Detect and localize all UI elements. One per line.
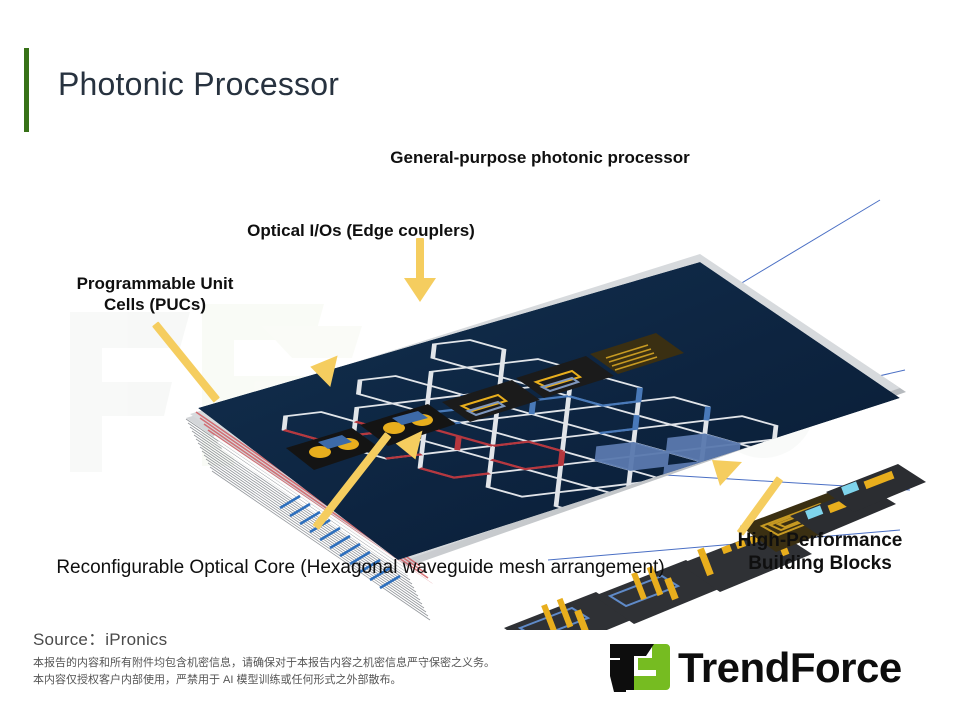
title-accent-bar [24,48,29,132]
label-blocks-line1: High-Performance [738,530,903,551]
arrow-optical-ios [404,238,436,302]
disclaimer-line-2: 本内容仅授权客户内部使用，严禁用于 AI 模型训练或任何形式之外部散布。 [33,672,495,689]
label-puc-line1: Programmable Unit [77,274,234,293]
page-title: Photonic Processor [58,66,339,103]
confidentiality-disclaimer: 本报告的内容和所有附件均包含机密信息，请确保对于本报告内容之机密信息严守保密之义… [33,655,495,689]
trendforce-logo: TrendForce [608,640,938,700]
slide-root: Photonic Processor [0,0,960,720]
label-high-performance-building-blocks: High-Performance Building Blocks [700,529,940,575]
label-reconfigurable-optical-core: Reconfigurable Optical Core (Hexagonal w… [48,556,673,579]
label-optical-ios: Optical I/Os (Edge couplers) [196,221,526,242]
trendforce-logo-mark [608,642,670,694]
trendforce-logo-text: TrendForce [678,644,902,692]
label-core-line2: arrangement) [551,557,665,578]
label-puc-line2: Cells (PUCs) [104,295,206,314]
source-citation: Source：iPronics [33,625,167,650]
disclaimer-line-1: 本报告的内容和所有附件均包含机密信息，请确保对于本报告内容之机密信息严守保密之义… [33,655,495,672]
label-blocks-line2: Building Blocks [748,553,892,574]
label-core-line1: Reconfigurable Optical Core (Hexagonal w… [56,557,545,578]
label-programmable-unit-cells: Programmable Unit Cells (PUCs) [30,274,280,315]
label-general-purpose-processor: General-purpose photonic processor [380,148,700,169]
